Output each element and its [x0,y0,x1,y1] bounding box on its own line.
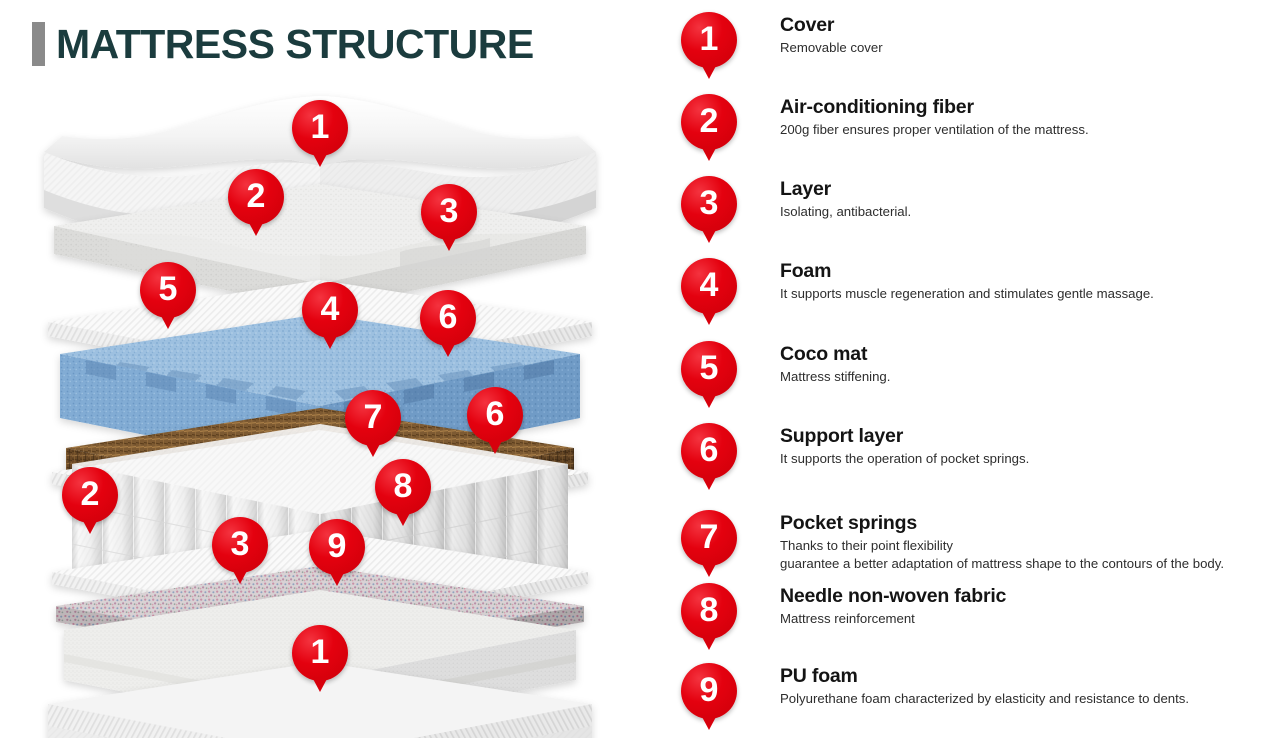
diagram-marker-4-foam-number: 4 [321,292,340,326]
legend-marker-5[interactable]: 5 [681,341,737,397]
legend-item-cover[interactable]: 1 Cover Removable cover [676,12,1280,68]
legend-marker-7-number: 7 [700,520,719,554]
legend-marker-8[interactable]: 8 [681,583,737,639]
legend-item-coco-mat[interactable]: 5 Coco mat Mattress stiffening. [676,341,1280,397]
legend-text-2: Air-conditioning fiber 200g fiber ensure… [780,94,1089,139]
legend-title-8: Needle non-woven fabric [780,585,1006,607]
mattress-structure-infographic: MATTRESS STRUCTURE [0,0,1280,743]
diagram-marker-2-fiber-lower-number: 2 [81,477,100,511]
page-title-text: MATTRESS STRUCTURE [56,24,534,65]
diagram-marker-7-pocket-springs-number: 7 [364,400,383,434]
legend-title-5: Coco mat [780,343,890,365]
diagram-marker-3-layer-lower-number: 3 [231,527,250,561]
legend-desc-1: Removable cover [780,39,883,57]
legend-item-support-layer[interactable]: 6 Support layer It supports the operatio… [676,423,1280,479]
diagram-marker-7-pocket-springs[interactable]: 7 [345,390,401,446]
legend-marker-6-number: 6 [700,433,719,467]
diagram-marker-1-cover-top-number: 1 [311,110,330,144]
diagram-marker-6-support-lower-number: 6 [486,397,505,431]
legend-title-4: Foam [780,260,1154,282]
legend-marker-5-number: 5 [700,351,719,385]
legend-text-8: Needle non-woven fabric Mattress reinfor… [780,583,1006,628]
diagram-marker-3-layer-lower[interactable]: 3 [212,517,268,573]
diagram-marker-1-cover-top[interactable]: 1 [292,100,348,156]
diagram-marker-1-cover-bottom[interactable]: 1 [292,625,348,681]
legend-desc-8: Mattress reinforcement [780,610,1006,628]
legend-marker-3-number: 3 [700,186,719,220]
legend-marker-1-number: 1 [700,22,719,56]
legend-desc-3: Isolating, antibacterial. [780,203,911,221]
legend-marker-2-number: 2 [700,104,719,138]
legend-pin-wrap-7: 7 [681,510,737,566]
legend-marker-3[interactable]: 3 [681,176,737,232]
diagram-marker-3-layer-number: 3 [440,194,459,228]
legend-desc-9: Polyurethane foam characterized by elast… [780,690,1189,708]
diagram-marker-6-support-upper[interactable]: 6 [420,290,476,346]
legend-title-3: Layer [780,178,911,200]
legend-text-6: Support layer It supports the operation … [780,423,1029,468]
legend-text-9: PU foam Polyurethane foam characterized … [780,663,1189,708]
diagram-marker-9-pu-foam-number: 9 [328,529,347,563]
legend-pin-wrap-1: 1 [681,12,737,68]
diagram-marker-2-fiber-lower[interactable]: 2 [62,467,118,523]
legend-marker-4-number: 4 [700,268,719,302]
title-accent-bar [32,22,45,66]
legend-item-needle-non-woven-fabric[interactable]: 8 Needle non-woven fabric Mattress reinf… [676,583,1280,639]
diagram-marker-8-needle-fabric[interactable]: 8 [375,459,431,515]
legend-item-layer[interactable]: 3 Layer Isolating, antibacterial. [676,176,1280,232]
legend-marker-9[interactable]: 9 [681,663,737,719]
legend-title-7: Pocket springs [780,512,1224,534]
legend-desc-6: It supports the operation of pocket spri… [780,450,1029,468]
legend-item-pu-foam[interactable]: 9 PU foam Polyurethane foam characterize… [676,663,1280,719]
legend-title-2: Air-conditioning fiber [780,96,1089,118]
legend-marker-4[interactable]: 4 [681,258,737,314]
legend-marker-6[interactable]: 6 [681,423,737,479]
legend-item-foam[interactable]: 4 Foam It supports muscle regeneration a… [676,258,1280,314]
legend-text-5: Coco mat Mattress stiffening. [780,341,890,386]
legend-pin-wrap-6: 6 [681,423,737,479]
legend-pin-wrap-9: 9 [681,663,737,719]
legend-desc-5: Mattress stiffening. [780,368,890,386]
diagram-marker-6-support-upper-number: 6 [439,300,458,334]
legend-title-9: PU foam [780,665,1189,687]
legend-title-6: Support layer [780,425,1029,447]
legend-pin-wrap-3: 3 [681,176,737,232]
legend-pin-wrap-2: 2 [681,94,737,150]
diagram-marker-3-layer[interactable]: 3 [421,184,477,240]
page-title: MATTRESS STRUCTURE [32,22,534,66]
legend-item-pocket-springs[interactable]: 7 Pocket springs Thanks to their point f… [676,510,1280,573]
diagram-marker-2-fiber[interactable]: 2 [228,169,284,225]
legend-text-4: Foam It supports muscle regeneration and… [780,258,1154,303]
legend-title-1: Cover [780,14,883,36]
diagram-marker-8-needle-fabric-number: 8 [394,469,413,503]
legend-item-air-conditioning-fiber[interactable]: 2 Air-conditioning fiber 200g fiber ensu… [676,94,1280,150]
legend-pin-wrap-8: 8 [681,583,737,639]
legend-text-1: Cover Removable cover [780,12,883,57]
diagram-marker-2-fiber-number: 2 [247,179,266,213]
legend-marker-1[interactable]: 1 [681,12,737,68]
legend-desc-4: It supports muscle regeneration and stim… [780,285,1154,303]
legend-text-3: Layer Isolating, antibacterial. [780,176,911,221]
legend-text-7: Pocket springs Thanks to their point fle… [780,510,1224,573]
legend-desc-7: Thanks to their point flexibility guaran… [780,537,1224,572]
mattress-cutaway-illustration: 1 2 3 5 4 6 7 6 8 2 3 9 [0,78,640,738]
diagram-marker-1-cover-bottom-number: 1 [311,635,330,669]
legend-desc-2: 200g fiber ensures proper ventilation of… [780,121,1089,139]
legend-list: 1 Cover Removable cover 2 Air-conditioni… [676,0,1280,743]
legend-marker-8-number: 8 [700,593,719,627]
legend-marker-7[interactable]: 7 [681,510,737,566]
diagram-marker-5-coco-mat[interactable]: 5 [140,262,196,318]
legend-pin-wrap-5: 5 [681,341,737,397]
legend-marker-9-number: 9 [700,673,719,707]
diagram-marker-6-support-lower[interactable]: 6 [467,387,523,443]
diagram-marker-9-pu-foam[interactable]: 9 [309,519,365,575]
diagram-marker-5-coco-mat-number: 5 [159,272,178,306]
legend-marker-2[interactable]: 2 [681,94,737,150]
legend-pin-wrap-4: 4 [681,258,737,314]
diagram-marker-4-foam[interactable]: 4 [302,282,358,338]
